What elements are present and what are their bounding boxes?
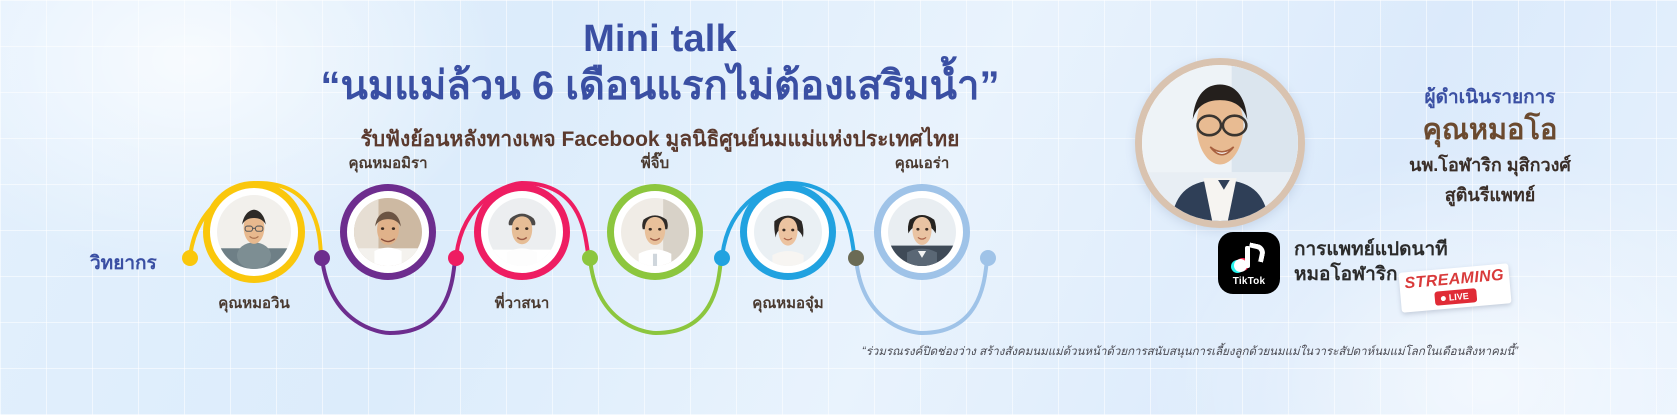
tiktok-icon[interactable]: TikTok (1218, 232, 1280, 294)
speaker-photo-5 (754, 198, 822, 266)
speaker-photo-6 (888, 198, 956, 266)
mini-talk-banner: Mini talk “นมแม่ล้วน 6 เดือนแรกไม่ต้องเส… (0, 0, 1677, 415)
speaker-avatar-ring-2 (340, 184, 436, 280)
host-photo (1142, 65, 1298, 221)
speaker-name-1: คุณหมอวิน (186, 291, 322, 315)
speaker-photo-3 (488, 198, 556, 266)
speaker-photo-4 (621, 198, 689, 266)
headline-block: Mini talk “นมแม่ล้วน 6 เดือนแรกไม่ต้องเส… (255, 18, 1065, 156)
host-specialty: สูตินรีแพทย์ (1325, 183, 1655, 207)
page-title: Mini talk (255, 18, 1065, 61)
tiktok-channel-line1: การแพทย์แปดนาที (1294, 238, 1448, 263)
speaker-avatar-ring-6 (874, 184, 970, 280)
tiktok-note-glyph (1232, 243, 1266, 275)
footer-note: “ร่วมรณรงค์ปิดช่องว่าง สร้างสังคมนมแม่ด้… (840, 343, 1540, 361)
speaker-name-2: คุณหมอมิรา (316, 151, 460, 175)
tiktok-wordmark: TikTok (1233, 276, 1266, 287)
live-dot-icon (1441, 295, 1446, 300)
host-text-block: ผู้ดำเนินรายการ คุณหมอโอ นพ.โอฬาริก มุสิ… (1325, 82, 1655, 207)
speaker-avatar-ring-4 (607, 184, 703, 280)
live-label: LIVE (1448, 291, 1469, 303)
host-avatar (1135, 58, 1305, 228)
speaker-avatar-ring-3 (474, 184, 570, 280)
host-nickname: คุณหมอโอ (1325, 115, 1655, 147)
speaker-name-6: คุณเอร่า (854, 151, 990, 175)
talk-topic: “นมแม่ล้วน 6 เดือนแรกไม่ต้องเสริมน้ำ” (255, 63, 1065, 110)
streaming-badge: STREAMING LIVE (1398, 263, 1511, 312)
speaker-name-3: พี่วาสนา (452, 291, 592, 315)
host-role-label: ผู้ดำเนินรายการ (1325, 82, 1655, 112)
speaker-name-5: คุณหมอจุ๋ม (716, 291, 860, 315)
speaker-avatar-ring-1 (203, 181, 305, 283)
speaker-photo-2 (354, 198, 422, 266)
speaker-photo-1 (217, 195, 291, 269)
host-full-name: นพ.โอฬาริก มุสิกวงศ์ (1325, 153, 1655, 177)
speaker-avatar-ring-5 (740, 184, 836, 280)
speaker-name-4: พี่จิ๊บ (587, 151, 723, 175)
host-panel: ผู้ดำเนินรายการ คุณหมอโอ นพ.โอฬาริก มุสิ… (1125, 52, 1665, 237)
speaker-timeline: วิทยากร (0, 175, 1110, 350)
